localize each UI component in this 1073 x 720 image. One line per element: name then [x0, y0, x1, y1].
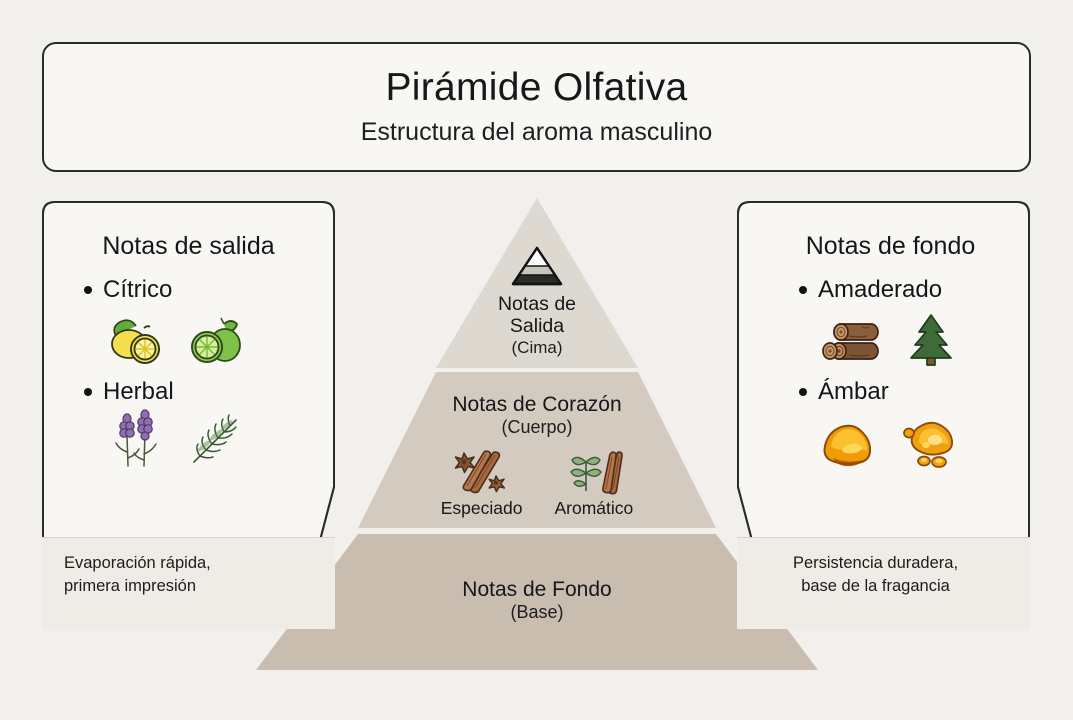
olfactory-pyramid: Notas de Salida (Cima) Notas de Corazón … [256, 198, 818, 670]
pyramid-tier-top[interactable]: Notas de Salida (Cima) [256, 198, 818, 368]
pyramid-tier-base[interactable]: Notas de Fondo (Base) [256, 534, 818, 670]
infographic-canvas: Pirámide Olfativa Estructura del aroma m… [0, 0, 1073, 720]
panel-top-notes[interactable]: Notas de salida Cítrico [42, 201, 335, 629]
pyramid-tier-middle[interactable]: Notas de Corazón (Cuerpo) [256, 372, 818, 528]
panel-right-outline [737, 201, 1030, 629]
panel-left-outline [42, 201, 335, 629]
panel-base-notes[interactable]: Notas de fondo Amaderado [737, 201, 1030, 629]
page-subtitle: Estructura del aroma masculino [361, 119, 713, 145]
header-card: Pirámide Olfativa Estructura del aroma m… [42, 42, 1031, 172]
page-title: Pirámide Olfativa [385, 68, 687, 109]
